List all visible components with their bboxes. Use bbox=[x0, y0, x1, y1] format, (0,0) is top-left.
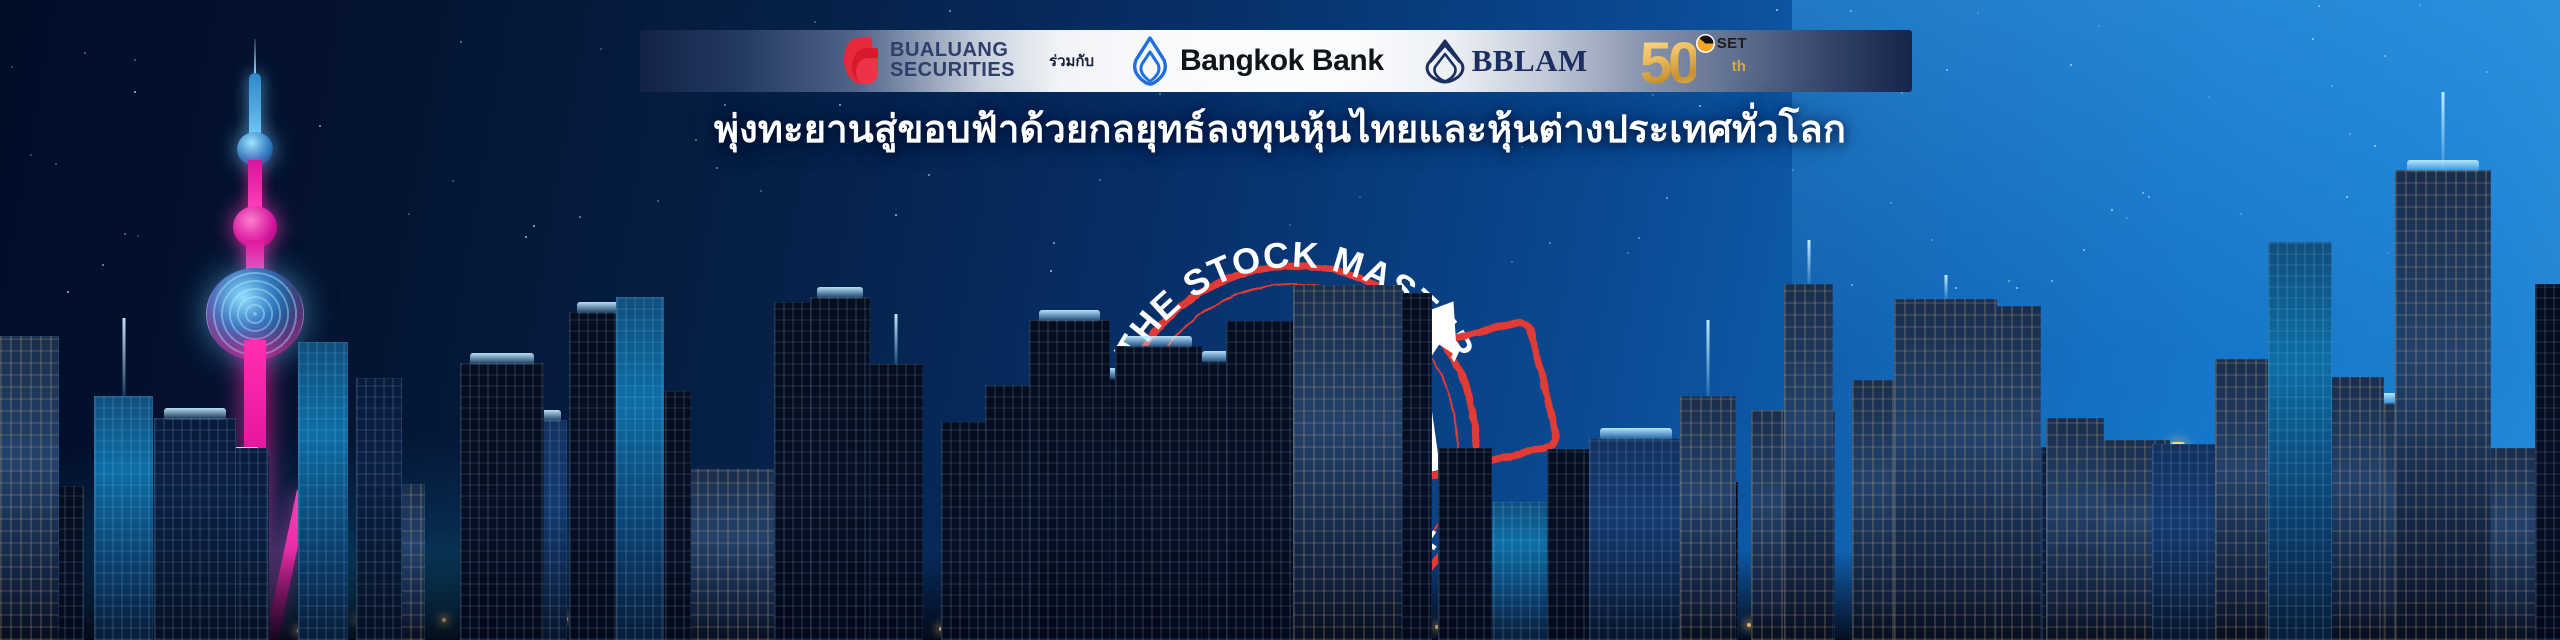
building bbox=[0, 336, 59, 640]
bualuang-securities-logo: BUALUANG SECURITIES bbox=[840, 30, 1015, 92]
star bbox=[2419, 4, 2421, 6]
building bbox=[1680, 396, 1736, 640]
star bbox=[1946, 69, 1948, 71]
building bbox=[1293, 285, 1402, 640]
star bbox=[134, 59, 136, 61]
star bbox=[949, 10, 951, 12]
bblam-logo: BBLAM bbox=[1424, 30, 1588, 92]
bualuang-line2: SECURITIES bbox=[890, 61, 1015, 81]
building bbox=[2046, 418, 2104, 640]
star bbox=[2384, 55, 2386, 57]
star bbox=[1977, 12, 1979, 14]
star bbox=[11, 66, 13, 68]
city-skyline bbox=[0, 80, 2560, 640]
headline-text: พุ่งทะยานสู่ขอบฟ้าด้วยกลยุทธ์ลงทุนหุ้นไท… bbox=[0, 98, 2560, 159]
building bbox=[1852, 380, 1897, 640]
star bbox=[2098, 25, 2100, 27]
empire-state-building-icon bbox=[2395, 170, 2491, 640]
star bbox=[1776, 9, 1778, 11]
building bbox=[1438, 448, 1492, 640]
building bbox=[1029, 320, 1110, 640]
star bbox=[600, 48, 602, 50]
bangkok-bank-logo: Bangkok Bank bbox=[1130, 30, 1384, 92]
building bbox=[2535, 284, 2560, 640]
campaign-banner: BUALUANG SECURITIES ร่วมกับ Bangkok Bank bbox=[0, 0, 2560, 640]
star bbox=[1850, 10, 1852, 12]
building bbox=[298, 342, 348, 640]
star bbox=[2318, 5, 2320, 7]
set-anniversary-number: 50 bbox=[1640, 30, 1697, 92]
building bbox=[1894, 299, 1997, 640]
building bbox=[1115, 346, 1202, 640]
building bbox=[460, 363, 544, 640]
set-anniversary-suffix: th bbox=[1732, 58, 1746, 75]
building bbox=[810, 297, 870, 640]
building bbox=[869, 364, 923, 640]
bblam-lotus-icon bbox=[1424, 38, 1466, 84]
street-light bbox=[442, 618, 446, 622]
building bbox=[1589, 438, 1683, 640]
bangkok-bank-lotus-icon bbox=[1130, 36, 1170, 86]
star bbox=[2486, 71, 2488, 73]
set-anniversary-icon: 50 SET th bbox=[1640, 32, 1760, 90]
bangkok-bank-label: Bangkok Bank bbox=[1180, 44, 1384, 78]
building bbox=[1784, 284, 1833, 640]
star bbox=[2070, 64, 2072, 66]
building bbox=[677, 469, 784, 640]
building bbox=[2268, 242, 2332, 640]
building bbox=[154, 418, 236, 640]
partner-logo-bar: BUALUANG SECURITIES ร่วมกับ Bangkok Bank bbox=[640, 30, 1912, 92]
set-logo-dot bbox=[1696, 34, 1715, 53]
building bbox=[356, 378, 402, 640]
star bbox=[814, 21, 816, 23]
set-label: SET bbox=[1717, 35, 1747, 52]
star bbox=[460, 41, 462, 43]
bblam-label: BBLAM bbox=[1472, 43, 1588, 79]
star bbox=[2312, 38, 2314, 40]
bualuang-flame-icon bbox=[840, 36, 882, 86]
building bbox=[616, 297, 664, 640]
star bbox=[84, 52, 86, 54]
ruamkub-connector-label: ร่วมกับ bbox=[1049, 49, 1094, 73]
building bbox=[94, 396, 153, 640]
